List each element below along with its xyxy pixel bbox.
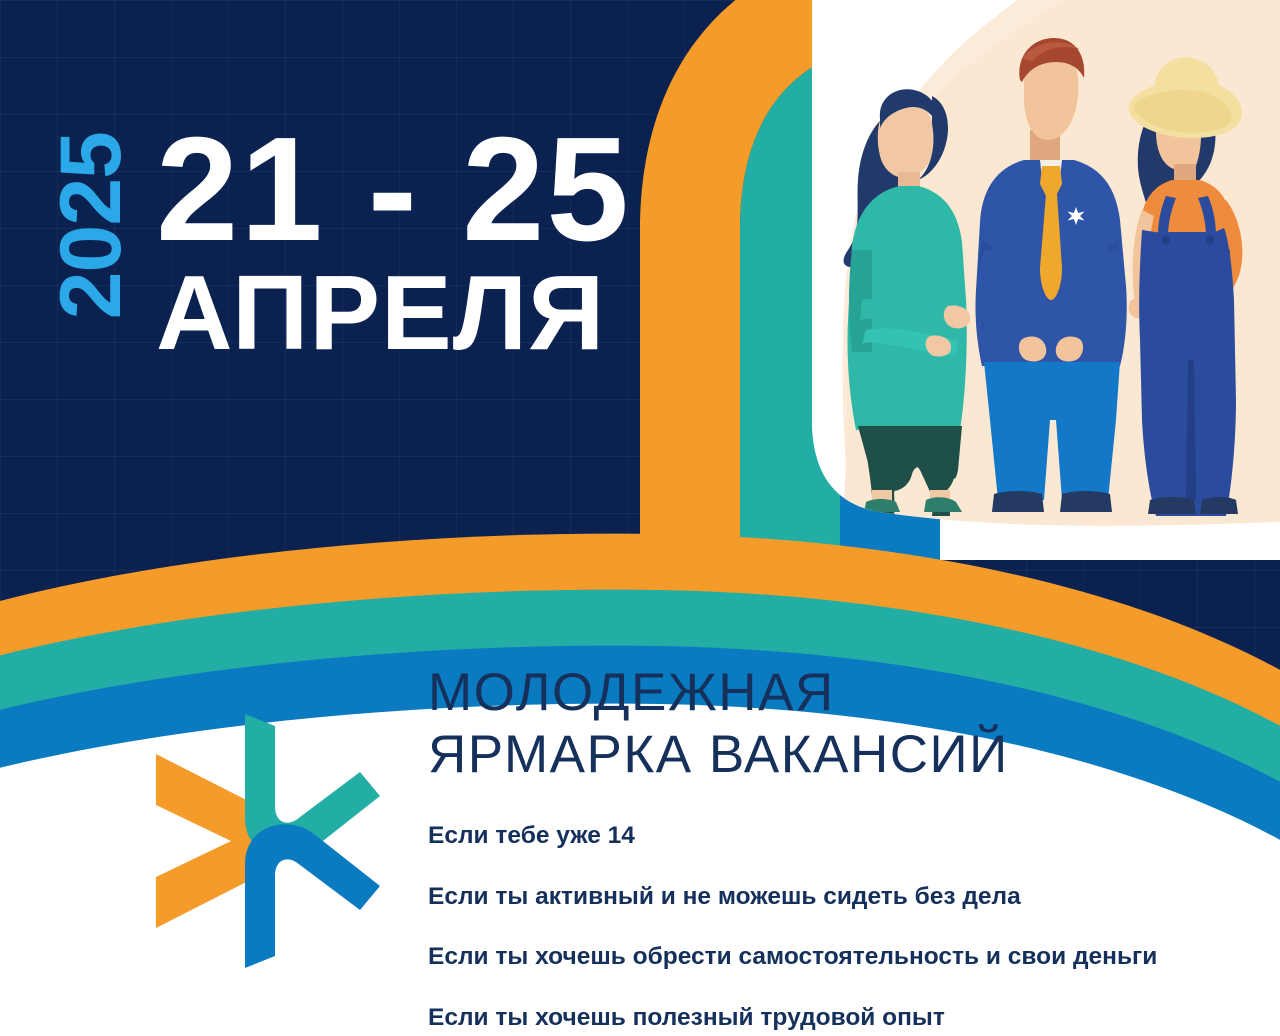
headline-line-2: ЯРМАРКА ВАКАНСИЙ [428,724,1264,786]
day-range-label: 21 - 25 [156,120,631,259]
date-text-group: 21 - 25 АПРЕЛЯ [156,120,631,364]
date-block: 2025 21 - 25 АПРЕЛЯ [0,120,631,364]
bullet-item: Если тебе уже 14 [428,824,1264,849]
bullet-item: Если ты хочешь обрести самостоятельность… [428,945,1264,970]
figure-woman-hat [1129,57,1243,516]
headline-line-1: МОЛОДЕЖНАЯ [428,662,1264,724]
month-label: АПРЕЛЯ [156,263,631,364]
copy-block: МОЛОДЕЖНАЯ ЯРМАРКА ВАКАНСИЙ Если тебе уж… [428,662,1264,1030]
blue-chevron-lower-icon [245,824,380,968]
bullet-item: Если ты хочешь полезный трудовой опыт [428,1006,1264,1031]
three-arrow-burst-logo [148,712,380,970]
year-label: 2025 [48,132,134,319]
bullet-item: Если ты активный и не можешь сидеть без … [428,885,1264,910]
poster-canvas: 2025 21 - 25 АПРЕЛЯ МОЛОДЕЖНАЯ ЯРМАРКА В… [0,0,1280,1036]
bullet-list: Если тебе уже 14 Если ты активный и не м… [428,824,1264,1030]
